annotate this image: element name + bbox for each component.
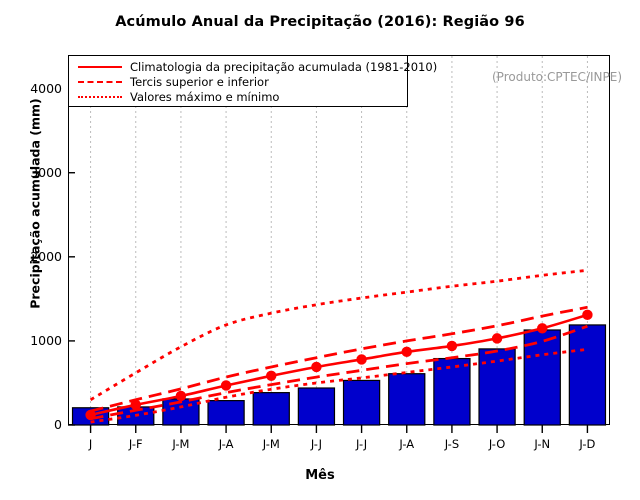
solid-line-icon <box>78 60 122 74</box>
dashed-line-icon <box>78 75 122 89</box>
x-tick-label: J-D <box>560 437 614 451</box>
data-point <box>221 380 231 390</box>
legend-item-climatology: Climatologia da precipitação acumulada (… <box>69 59 437 75</box>
legend-label: Valores máximo e mínimo <box>130 90 279 104</box>
dotted-line-icon <box>78 90 122 104</box>
y-tick-label: 1000 <box>10 333 62 348</box>
bar <box>253 393 289 425</box>
legend-label: Tercis superior e inferior <box>130 75 269 89</box>
bar <box>344 380 380 425</box>
data-point <box>447 341 457 351</box>
data-point <box>402 347 412 357</box>
data-point <box>266 371 276 381</box>
climatology-markers <box>85 310 592 420</box>
data-point <box>356 354 366 364</box>
product-credit: (Produto:CPTEC/INPE) <box>492 70 622 84</box>
legend-item-terciles: Tercis superior e inferior <box>69 74 269 90</box>
data-point <box>131 400 141 410</box>
data-point <box>176 391 186 401</box>
data-point <box>311 362 321 372</box>
y-axis-label: Precipitação acumulada (mm) <box>28 74 43 334</box>
bar <box>298 388 334 425</box>
y-tick-label: 0 <box>10 417 62 432</box>
data-point <box>492 333 502 343</box>
data-point <box>85 410 95 420</box>
chart-root: Acúmulo Anual da Precipitação (2016): Re… <box>0 0 640 500</box>
data-point <box>582 310 592 320</box>
legend: Climatologia da precipitação acumulada (… <box>68 55 408 107</box>
x-axis-label: Mês <box>0 468 640 483</box>
bar <box>208 401 244 425</box>
data-point <box>537 323 547 333</box>
legend-label: Climatologia da precipitação acumulada (… <box>130 60 437 74</box>
bar <box>389 374 425 425</box>
legend-item-extremes: Valores máximo e mínimo <box>69 89 279 105</box>
bar <box>569 325 605 425</box>
